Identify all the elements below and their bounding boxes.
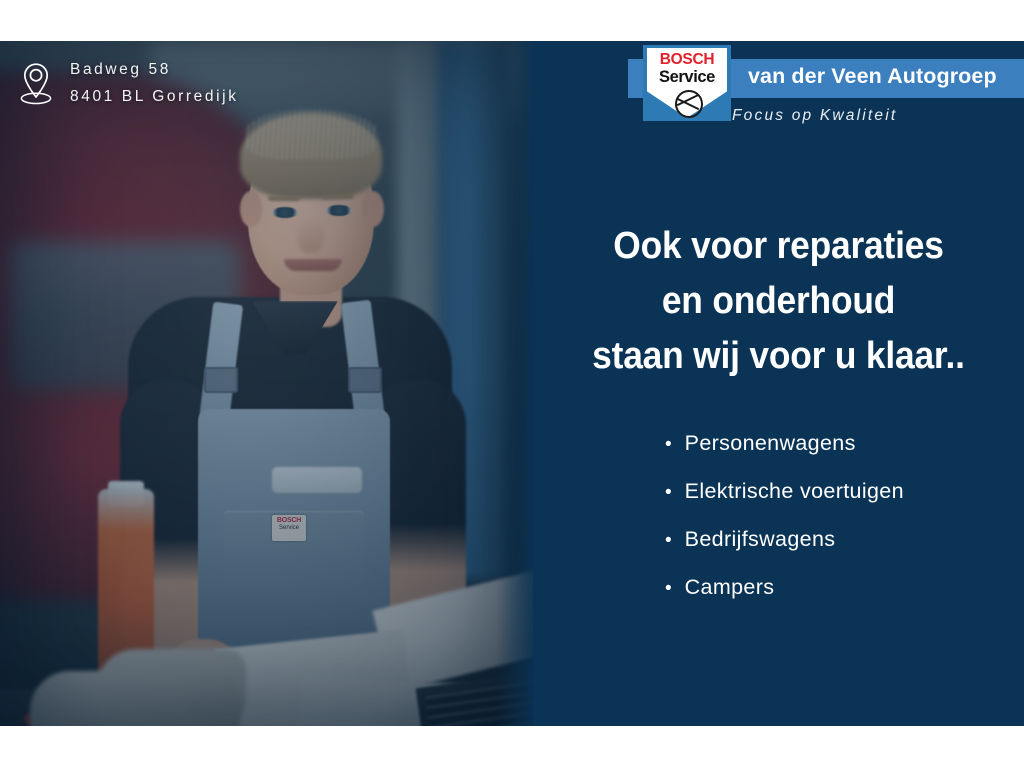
list-item: • Bedrijfswagens — [665, 527, 1024, 551]
bullet-dot-icon: • — [665, 531, 672, 550]
headline-line-3: staan wij voor u klaar.. — [550, 329, 1007, 384]
bullet-dot-icon: • — [665, 579, 672, 598]
photo-right-edge-fade — [497, 41, 533, 726]
address-block: Badweg 58 8401 BL Gorredijk — [18, 56, 239, 110]
address-line-1: Badweg 58 — [70, 56, 239, 83]
headline-line-2: en onderhoud — [550, 274, 1007, 329]
info-panel: BOSCH Service van der Veen Autogroep Foc… — [533, 41, 1024, 726]
bullet-dot-icon: • — [665, 435, 672, 454]
mechanic-photo: BOSCH Service — [0, 41, 533, 726]
service-label: Personenwagens — [685, 431, 856, 455]
brand-header: BOSCH Service van der Veen Autogroep Foc… — [533, 41, 1024, 137]
list-item: • Elektrische voertuigen — [665, 479, 1024, 503]
banner-stage: BOSCH Service — [0, 0, 1024, 768]
headline-line-1: Ook voor reparaties — [550, 219, 1007, 274]
bosch-armature-icon — [675, 90, 703, 118]
logo-bosch-text: BOSCH — [643, 51, 731, 69]
brand-tagline: Focus op Kwaliteit — [732, 107, 897, 125]
bullet-dot-icon: • — [665, 483, 672, 502]
service-label: Campers — [685, 575, 775, 599]
list-item: • Campers — [665, 575, 1024, 599]
company-name: van der Veen Autogroep — [748, 64, 997, 89]
bosch-service-logo: BOSCH Service — [643, 45, 731, 121]
photo-vignette — [0, 41, 533, 726]
headline: Ook voor reparaties en onderhoud staan w… — [550, 219, 1007, 384]
service-label: Bedrijfswagens — [685, 527, 836, 551]
location-pin-icon — [18, 61, 54, 105]
list-item: • Personenwagens — [665, 431, 1024, 455]
address-line-2: 8401 BL Gorredijk — [70, 83, 239, 110]
services-list: • Personenwagens • Elektrische voertuige… — [665, 431, 1024, 623]
service-label: Elektrische voertuigen — [685, 479, 904, 503]
address-text: Badweg 58 8401 BL Gorredijk — [70, 56, 239, 110]
logo-service-text: Service — [643, 68, 731, 87]
promo-banner: BOSCH Service — [0, 41, 1024, 726]
